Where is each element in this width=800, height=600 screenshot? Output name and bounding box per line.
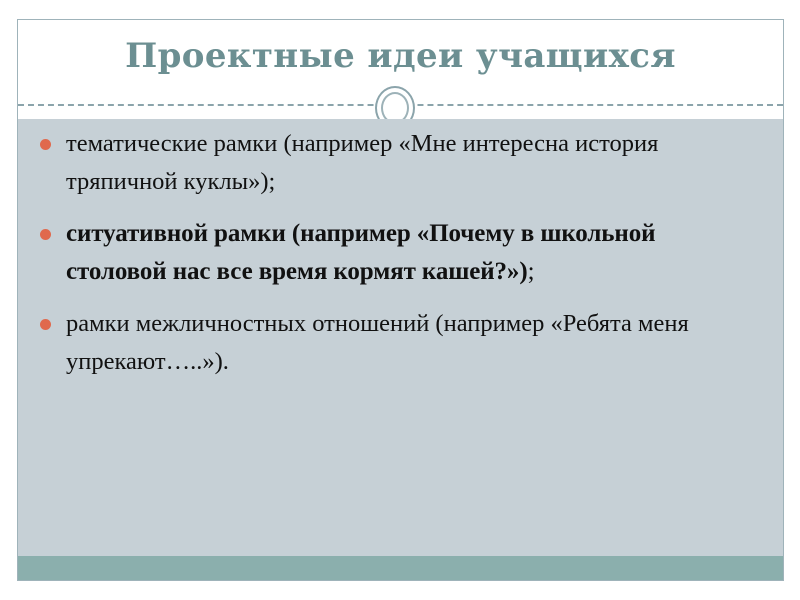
bullet-list: тематические рамки (например «Мне интере… <box>18 125 783 395</box>
list-item-text: рамки межличностных отношений (например … <box>66 310 689 375</box>
list-item: рамки межличностных отношений (например … <box>18 305 783 381</box>
bottom-accent-band <box>18 556 783 580</box>
list-item: тематические рамки (например «Мне интере… <box>18 125 783 201</box>
list-item-text: ситуативной рамки (например «Почему в шк… <box>66 220 655 285</box>
round-bullet-icon <box>40 139 51 150</box>
list-item-text: тематические рамки (например «Мне интере… <box>66 130 658 195</box>
round-bullet-icon <box>40 229 51 240</box>
page-title: Проектные идеи учащихся <box>18 36 783 76</box>
round-bullet-icon <box>40 319 51 330</box>
presentation-slide: Проектные идеи учащихся тематические рам… <box>0 0 800 600</box>
list-item: ситуативной рамки (например «Почему в шк… <box>18 215 783 291</box>
list-item-text-tail: ; <box>528 258 535 285</box>
